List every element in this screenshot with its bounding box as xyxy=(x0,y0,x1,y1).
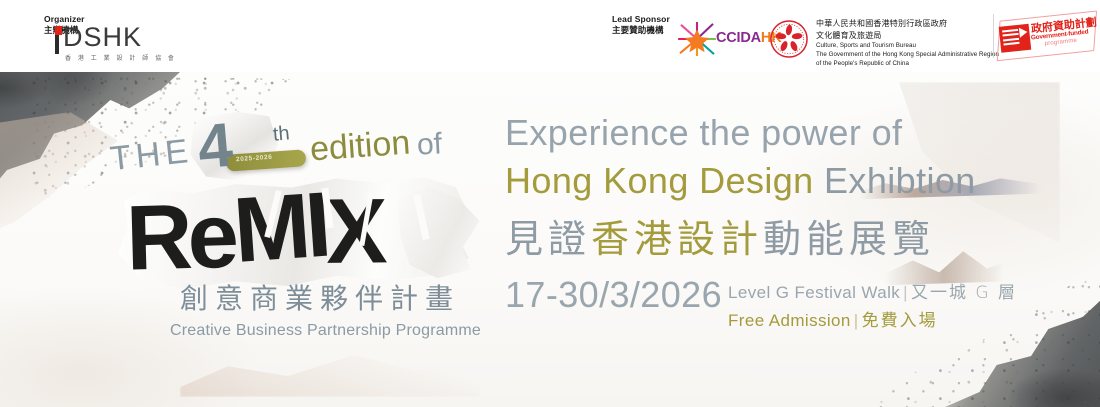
edition-word: edition xyxy=(309,124,412,170)
headline-line3-slate-b: 動能展覽 xyxy=(763,217,935,261)
hksar-bureau-block[interactable]: 中華人民共和國香港特別行政區政府 文化體育及旅遊局 Culture, Sport… xyxy=(770,18,985,60)
idshk-red-square-icon xyxy=(55,26,62,35)
idshk-i-stem-icon xyxy=(55,35,59,54)
venue-en: Level G Festival Walk xyxy=(728,283,900,302)
programme-tagline: 創意商業夥伴計畫 Creative Business Partnership P… xyxy=(170,282,470,340)
sponsor-header-bar: Organizer 主辦機構 DSHK 香 港 工 業 設 計 師 協 會 Le… xyxy=(0,0,1100,72)
bureau-text-block: 中華人民共和國香港特別行政區政府 文化體育及旅遊局 Culture, Sport… xyxy=(816,18,999,69)
event-date: 17-30/3/2026 xyxy=(505,274,722,316)
remix-fragment-re: Re xyxy=(125,190,235,285)
event-details-panel: Experience the power of Hong Kong Design… xyxy=(500,72,1100,407)
admission-zh: 免費入場 xyxy=(862,311,938,331)
event-admission: Free Admission|免費入場 xyxy=(728,306,938,331)
gov-funded-arrow-icon xyxy=(1019,27,1028,38)
headline-line2-gold: Hong Kong Design xyxy=(505,160,824,201)
bauhinia-emblem-icon xyxy=(770,20,808,58)
promotional-banner: Organizer 主辦機構 DSHK 香 港 工 業 設 計 師 協 會 Le… xyxy=(0,0,1100,407)
headline-line2-slate: Exhibtion xyxy=(824,160,976,201)
bureau-en-line3: of the People's Republic of China xyxy=(816,60,999,69)
lead-sponsor-label-zh: 主要贊助機構 xyxy=(612,25,670,36)
banner-artwork: THE 2025-2026 4 th edition of ReMIX xyxy=(0,72,1100,407)
bureau-en-line2: The Government of the Hong Kong Special … xyxy=(816,51,999,60)
ccida-text: CCIDA xyxy=(716,30,761,46)
header-divider xyxy=(993,14,994,58)
edition-ordinal: th xyxy=(272,122,291,146)
bureau-zh-line1: 中華人民共和國香港特別行政區政府 xyxy=(816,18,999,30)
headline-line3-gold: 香港設計 xyxy=(591,217,763,261)
ccidahk-logo[interactable]: CCIDAHK xyxy=(678,22,783,56)
admission-separator: | xyxy=(851,311,862,330)
ccidahk-starburst-icon xyxy=(678,22,716,56)
admission-en: Free Admission xyxy=(728,311,851,330)
bureau-en-line1: Culture, Sports and Tourism Bureau xyxy=(816,42,999,51)
idshk-logo-subtitle: 香 港 工 業 設 計 師 協 會 xyxy=(65,53,177,62)
event-logo-lockup: THE 2025-2026 4 th edition of ReMIX xyxy=(0,72,500,407)
gov-funded-bars-icon xyxy=(1002,29,1020,48)
idshk-logo-text: DSHK xyxy=(63,22,142,53)
headline-line2: Hong Kong Design Exhibtion xyxy=(505,160,976,202)
remix-fragment-x: X xyxy=(325,185,382,277)
venue-zh: 又一城 G 層 xyxy=(911,283,1017,303)
remix-wordmark: ReMIX xyxy=(124,180,384,283)
of-word: of xyxy=(416,127,443,162)
government-funded-logo[interactable]: 政府資助計劃 Government-funded programme xyxy=(998,11,1094,62)
headline-line3-slate-a: 見證 xyxy=(505,217,591,261)
bureau-zh-line2: 文化體育及旅遊局 xyxy=(816,30,999,42)
lead-sponsor-block: Lead Sponsor 主要贊助機構 xyxy=(612,14,670,37)
tagline-en: Creative Business Partnership Programme xyxy=(170,322,470,340)
headline-line3-zh: 見證香港設計動能展覽 xyxy=(505,208,935,263)
idshk-logo[interactable]: DSHK 香 港 工 業 設 計 師 協 會 xyxy=(55,22,160,62)
venue-separator: | xyxy=(900,283,911,302)
tagline-zh: 創意商業夥伴計畫 xyxy=(170,282,470,316)
headline-line1: Experience the power of xyxy=(505,112,902,154)
event-venue: Level G Festival Walk|又一城 G 層 xyxy=(728,278,1017,303)
lead-sponsor-label-en: Lead Sponsor xyxy=(612,14,670,25)
